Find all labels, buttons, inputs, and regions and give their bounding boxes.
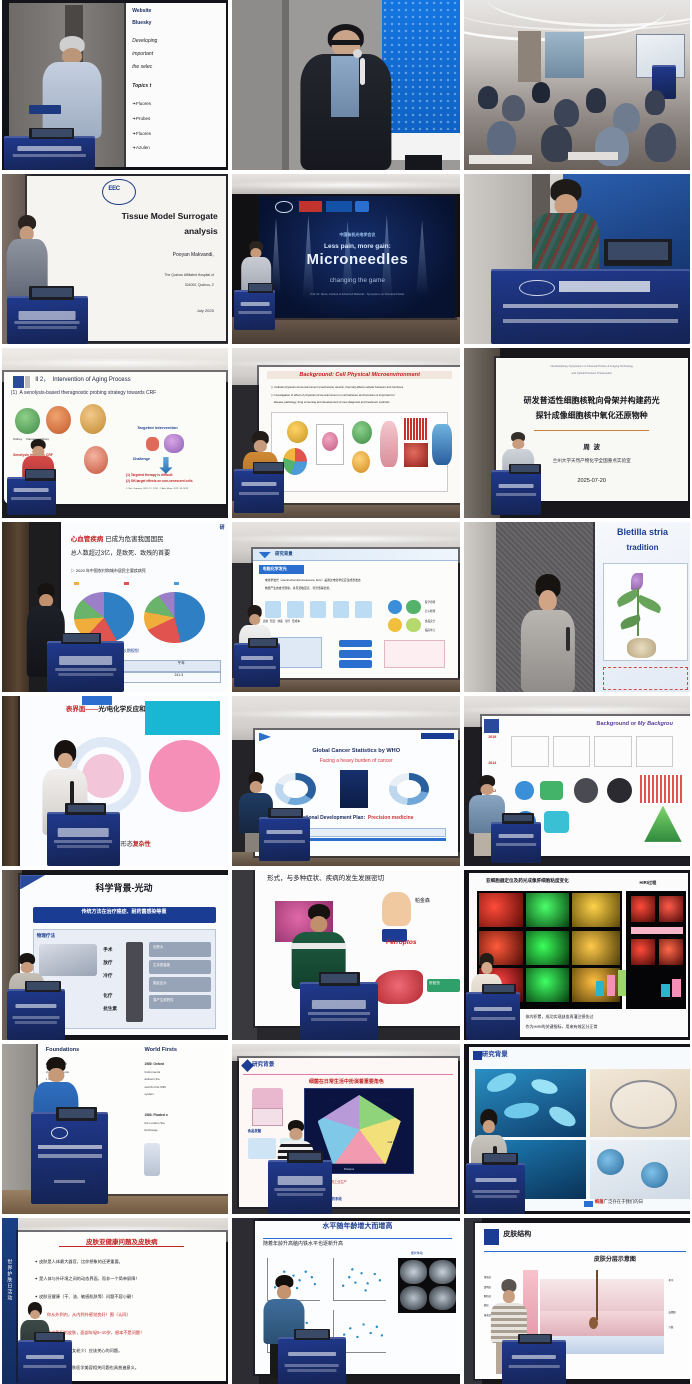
photo-cell-r8c3[interactable]: 皮肤结构 皮肤分层示意图 角质层 透明层 颗粒层 棉层 基底层 毛干 皮脂膇 汗… (462, 1218, 692, 1384)
photo-r2c2: 中国有机光电学会议 Less pain, more gain: Micronee… (232, 174, 460, 344)
photo-cell-r3c3[interactable]: Interdisciplinary Symposium on Chemical … (462, 348, 692, 518)
photo-cell-r1c1[interactable]: Website Bluesky Developing important the… (0, 0, 230, 170)
photo-r2c3 (464, 174, 690, 344)
photo-cell-r7c1[interactable]: Foundations World Firsts ounded 1959 xfo… (0, 1044, 230, 1214)
photo-r6c3: 亚细胞器定位及药光成像肝细胞粘度变化 HIRI过程 (464, 870, 690, 1040)
photo-cell-r4c3[interactable]: Bletilla stria tradition (462, 522, 692, 692)
photo-r3c1: Ⅱ 2， Intervention of Aging Process (1) A… (2, 348, 228, 518)
photo-r6c2: 形式，与多种症状、疾病的发生发展密切 帕金森 Ferroptos 肝脏伤 (232, 870, 460, 1040)
photo-grid: Website Bluesky Developing important the… (0, 0, 692, 1384)
photo-cell-r6c3[interactable]: 亚细胞器定位及药光成像肝细胞粘度变化 HIRI过程 (462, 870, 692, 1040)
photo-cell-r2c1[interactable]: EEC Tissue Model Surrogate analysis Pooy… (0, 174, 230, 344)
photo-r4c3: Bletilla stria tradition (464, 522, 690, 692)
photo-cell-r8c2[interactable]: 水平随年龄增大而增高 随着年龄升高脑内铁水平也逐新升高 细状体动 (230, 1218, 462, 1384)
photo-r1c3 (464, 0, 690, 170)
speaker-figure (300, 24, 391, 170)
photo-r5c1: 表界面——光/电化学反应和 0, 2304807. 结构和界面形态复杂性 (2, 696, 228, 866)
photo-cell-r5c1[interactable]: 表界面——光/电化学反应和 0, 2304807. 结构和界面形态复杂性 (0, 696, 230, 866)
photo-r2c1: EEC Tissue Model Surrogate analysis Pooy… (2, 174, 228, 344)
photo-r3c2: Background: Cell Physical Microenvironme… (232, 348, 460, 518)
photo-r5c2: Global Cancer Statistics by WHO Facing a… (232, 696, 460, 866)
photo-r3c3: Interdisciplinary Symposium on Chemical … (464, 348, 690, 518)
photo-cell-r3c2[interactable]: Background: Cell Physical Microenvironme… (230, 348, 462, 518)
photo-r7c2: 研究背景 细菌在日常生活中扮演着重要角色 食品发酷 Enzymes Nuclei… (232, 1044, 460, 1214)
photo-cell-r3c1[interactable]: Ⅱ 2， Intervention of Aging Process (1) A… (0, 348, 230, 518)
photo-r8c1: 世界护肤日活动 皮肤亚健康问题及皮肤病 ✦ 皮肤是人体最大器官，比你想象的还更重… (2, 1218, 228, 1384)
photo-cell-r7c3[interactable]: 研究背景 细菌广泛存在于我们的日 (462, 1044, 692, 1214)
photo-cell-r2c3[interactable] (462, 174, 692, 344)
event-side-banner: 世界护肤日活动 (2, 1218, 18, 1384)
photo-r1c1: Website Bluesky Developing important the… (2, 0, 228, 170)
photo-cell-r4c2[interactable]: 研究背景 电能化学发光 电化学发光（electrochemiluminescen… (230, 522, 462, 692)
photo-r4c2: 研究背景 电能化学发光 电化学发光（electrochemiluminescen… (232, 522, 460, 692)
photo-r5c3: Background or My Backgrou 2019 2014 2012… (464, 696, 690, 866)
photo-cell-r2c2[interactable]: 中国有机光电学会议 Less pain, more gain: Micronee… (230, 174, 462, 344)
photo-r6c1: 科学背景-光动 传统方法在治疗癌症、耐药菌感染等重 物理疗法 手术 放疗 冷疗 … (2, 870, 228, 1040)
photo-r8c3: 皮肤结构 皮肤分层示意图 角质层 透明层 颗粒层 棉层 基底层 毛干 皮脂膇 汗… (464, 1218, 690, 1384)
photo-r7c3: 研究背景 细菌广泛存在于我们的日 (464, 1044, 690, 1214)
photo-r4c1: 研 心血管疾病 已成为危害我国国民 总人数超过3亿，是致死、致残的首要 ▷ 20… (2, 522, 228, 692)
photo-cell-r1c2[interactable] (230, 0, 462, 170)
photo-r7c1: Foundations World Firsts ounded 1959 xfo… (2, 1044, 228, 1214)
photo-cell-r5c2[interactable]: Global Cancer Statistics by WHO Facing a… (230, 696, 462, 866)
photo-cell-r6c1[interactable]: 科学背景-光动 传统方法在治疗癌症、耐药菌感染等重 物理疗法 手术 放疗 冷疗 … (0, 870, 230, 1040)
photo-cell-r4c1[interactable]: 研 心血管疾病 已成为危害我国国民 总人数超过3亿，是致死、致残的首要 ▷ 20… (0, 522, 230, 692)
photo-cell-r1c3[interactable] (462, 0, 692, 170)
photo-r8c2: 水平随年龄增大而增高 随着年龄升高脑内铁水平也逐新升高 细状体动 (232, 1218, 460, 1384)
photo-r1c2 (232, 0, 460, 170)
photo-cell-r8c1[interactable]: 世界护肤日活动 皮肤亚健康问题及皮肤病 ✦ 皮肤是人体最大器官，比你想象的还更重… (0, 1218, 230, 1384)
photo-cell-r7c2[interactable]: 研究背景 细菌在日常生活中扮演着重要角色 食品发酷 Enzymes Nuclei… (230, 1044, 462, 1214)
photo-cell-r6c2[interactable]: 形式，与多种症状、疾病的发生发展密切 帕金森 Ferroptos 肝脏伤 (230, 870, 462, 1040)
photo-cell-r5c3[interactable]: Background or My Backgrou 2019 2014 2012… (462, 696, 692, 866)
